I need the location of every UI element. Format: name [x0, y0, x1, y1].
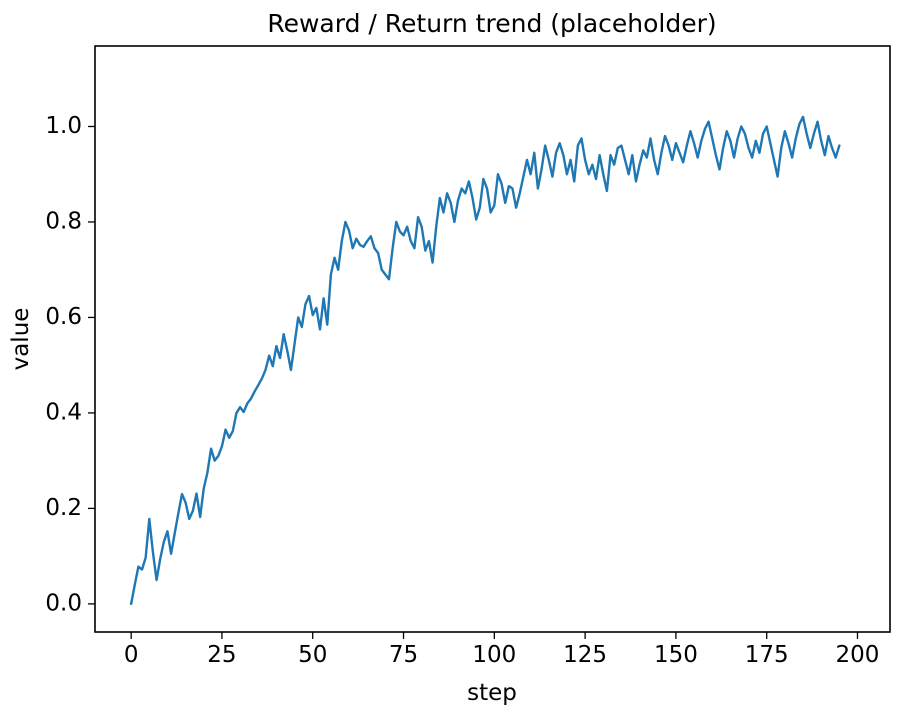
x-tick-label: 150	[654, 642, 698, 668]
axes-frame	[95, 46, 890, 632]
chart-title: Reward / Return trend (placeholder)	[267, 9, 716, 38]
line-chart: Reward / Return trend (placeholder) 0.00…	[0, 0, 905, 721]
y-tick-label: 0.0	[45, 590, 82, 616]
x-tick-label: 75	[389, 642, 418, 668]
y-tick-label: 0.8	[45, 208, 82, 234]
x-tick-label: 50	[298, 642, 327, 668]
x-tick-label: 0	[124, 642, 139, 668]
y-tick-label: 1.0	[45, 113, 82, 139]
y-axis-title: value	[8, 308, 34, 371]
x-axis-title: step	[467, 680, 517, 706]
x-tick-label: 175	[745, 642, 789, 668]
x-tick-label: 200	[836, 642, 880, 668]
x-tick-label: 100	[472, 642, 516, 668]
x-tick-label: 125	[563, 642, 607, 668]
x-tick-label: 25	[207, 642, 236, 668]
y-tick-label: 0.4	[45, 399, 82, 425]
matplotlib-figure: Reward / Return trend (placeholder) 0.00…	[0, 0, 905, 721]
y-tick-label: 0.6	[45, 304, 82, 330]
y-tick-label: 0.2	[45, 495, 82, 521]
